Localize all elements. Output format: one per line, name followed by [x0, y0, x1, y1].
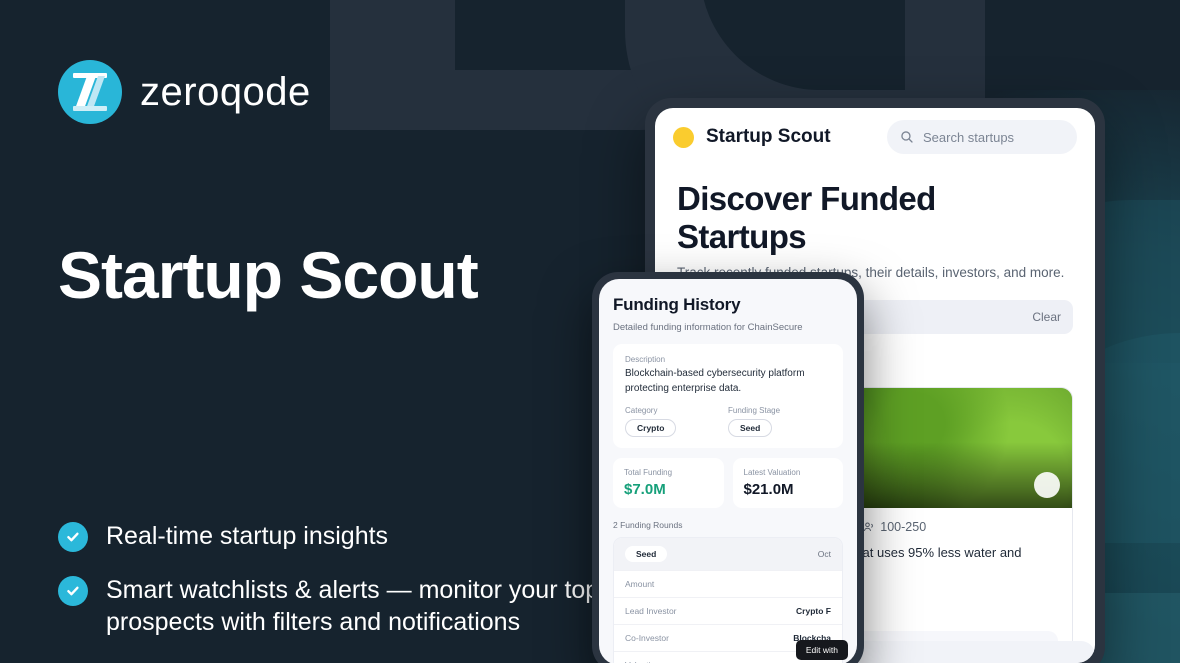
brand-name: zeroqode	[140, 70, 311, 115]
hero-panel: zeroqode Startup Scout Real-time startup…	[0, 0, 640, 663]
row-key: Co-Investor	[625, 633, 669, 643]
phone-mockup: Funding History Detailed funding informa…	[592, 272, 864, 663]
feature-list: Real-time startup insights Smart watchli…	[58, 520, 628, 660]
latest-valuation-value: $21.0M	[744, 481, 833, 498]
total-funding-stat: Total Funding $7.0M	[613, 458, 724, 508]
round-header: Seed Oct	[614, 538, 842, 570]
zeroqode-z-icon	[58, 60, 122, 124]
discover-heading: Discover Funded Startups	[677, 180, 1073, 256]
category-chip[interactable]: Crypto	[625, 419, 676, 437]
phone-screen: Funding History Detailed funding informa…	[599, 279, 857, 663]
edit-tooltip[interactable]: Edit with	[796, 640, 848, 660]
search-input[interactable]: Search startups	[887, 120, 1077, 154]
list-item: Smart watchlists & alerts — monitor your…	[58, 574, 628, 638]
category-label: Category	[625, 406, 728, 415]
latest-valuation-stat: Latest Valuation $21.0M	[733, 458, 844, 508]
yellow-dot-icon	[673, 127, 694, 148]
app-name: Startup Scout	[706, 126, 831, 148]
total-funding-value: $7.0M	[624, 481, 713, 498]
category-group: Category Crypto	[625, 406, 728, 437]
company-detail-card: Description Blockchain-based cybersecuri…	[613, 344, 843, 448]
row-value: Crypto F	[796, 606, 831, 616]
funding-stats: Total Funding $7.0M Latest Valuation $21…	[613, 458, 843, 508]
check-circle-icon	[58, 522, 88, 552]
brand-logo: zeroqode	[58, 60, 311, 124]
clear-filter-button[interactable]: Clear	[1032, 310, 1061, 324]
stage-chip[interactable]: Seed	[728, 419, 772, 437]
team-meta: 100-250	[863, 520, 926, 534]
app-header: Startup Scout Search startups	[655, 108, 1095, 166]
search-placeholder: Search startups	[923, 130, 1014, 145]
people-icon	[863, 521, 875, 533]
page-title: Startup Scout	[58, 242, 478, 308]
rounds-count: 2 Funding Rounds	[613, 520, 843, 530]
feature-label: Real-time startup insights	[106, 520, 388, 552]
check-circle-icon	[58, 576, 88, 606]
latest-valuation-label: Latest Valuation	[744, 468, 833, 477]
funding-history-title: Funding History	[613, 295, 843, 315]
row-key: Lead Investor	[625, 606, 677, 616]
bookmark-icon[interactable]	[1034, 472, 1060, 498]
table-row: Lead Investor Crypto F	[614, 597, 842, 624]
round-date: Oct	[818, 549, 831, 559]
round-stage-chip: Seed	[625, 546, 667, 562]
description-value: Blockchain-based cybersecurity platform …	[625, 367, 831, 396]
row-key: Amount	[625, 579, 654, 589]
search-icon	[900, 130, 914, 144]
stage-group: Funding Stage Seed	[728, 406, 831, 437]
table-row: Amount	[614, 570, 842, 597]
stage-label: Funding Stage	[728, 406, 831, 415]
list-item: Real-time startup insights	[58, 520, 628, 552]
feature-label: Smart watchlists & alerts — monitor your…	[106, 574, 628, 638]
funding-history-subtitle: Detailed funding information for ChainSe…	[613, 322, 843, 333]
total-funding-label: Total Funding	[624, 468, 713, 477]
category-stage-row: Category Crypto Funding Stage Seed	[625, 406, 831, 437]
team-size-text: 100-250	[880, 520, 926, 534]
description-label: Description	[625, 355, 831, 364]
